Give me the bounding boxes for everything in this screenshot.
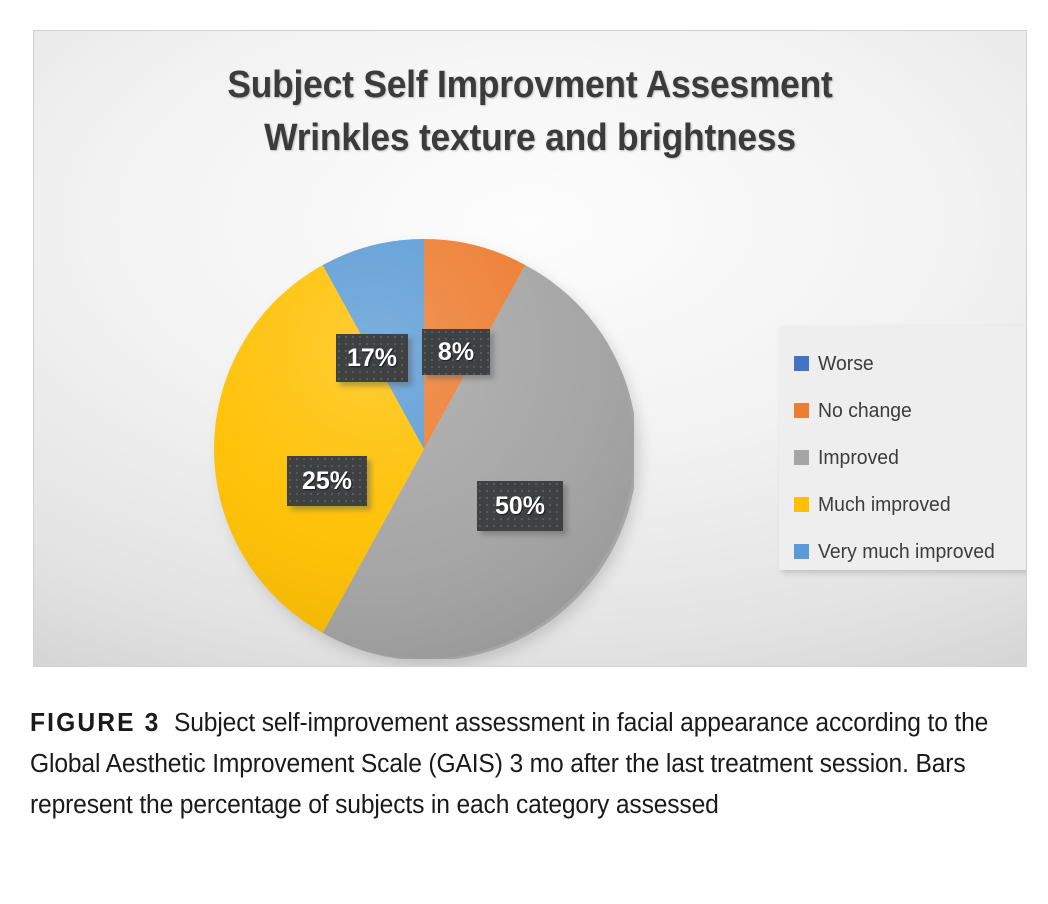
legend-label-much-improved: Much improved (818, 495, 951, 515)
chart-panel: Subject Self Improvment Assesment Wrinkl… (33, 30, 1027, 667)
figure-caption: FIGURE 3Subject self-improvement assessm… (30, 703, 989, 826)
pie-chart (214, 239, 634, 659)
legend-item-much-improved[interactable]: Much improved (779, 481, 1027, 528)
legend-item-very-much-improved[interactable]: Very much improved (779, 528, 1027, 575)
legend-item-improved[interactable]: Improved (779, 434, 1027, 481)
data-label-improved: 50% (477, 481, 563, 531)
chart-title: Subject Self Improvment Assesment Wrinkl… (69, 59, 992, 165)
legend-label-worse: Worse (818, 354, 874, 374)
legend-label-no-change: No change (818, 401, 912, 421)
legend-label-very-much-improved: Very much improved (818, 542, 995, 562)
data-label-no-change: 8% (422, 329, 490, 375)
data-label-much-improved: 25% (287, 456, 367, 506)
legend-swatch-icon-very-much-improved (794, 544, 809, 559)
legend-swatch-icon-improved (794, 450, 809, 465)
data-label-very-much-improved: 17% (336, 334, 408, 382)
figure-page: Subject Self Improvment Assesment Wrinkl… (0, 0, 1048, 904)
legend-item-worse[interactable]: Worse (779, 340, 1027, 387)
legend-swatch-icon-no-change (794, 403, 809, 418)
pie-svg (214, 239, 634, 659)
legend-swatch-icon-much-improved (794, 497, 809, 512)
figure-number-label: FIGURE 3 (30, 709, 160, 737)
figure-caption-text: Subject self-improvement assessment in f… (30, 709, 988, 819)
legend-label-improved: Improved (818, 448, 899, 468)
legend-swatch-icon-worse (794, 356, 809, 371)
chart-legend: Worse No change Improved Much improved V… (779, 326, 1027, 570)
pie-sheen-overlay (214, 239, 634, 659)
legend-item-no-change[interactable]: No change (779, 387, 1027, 434)
